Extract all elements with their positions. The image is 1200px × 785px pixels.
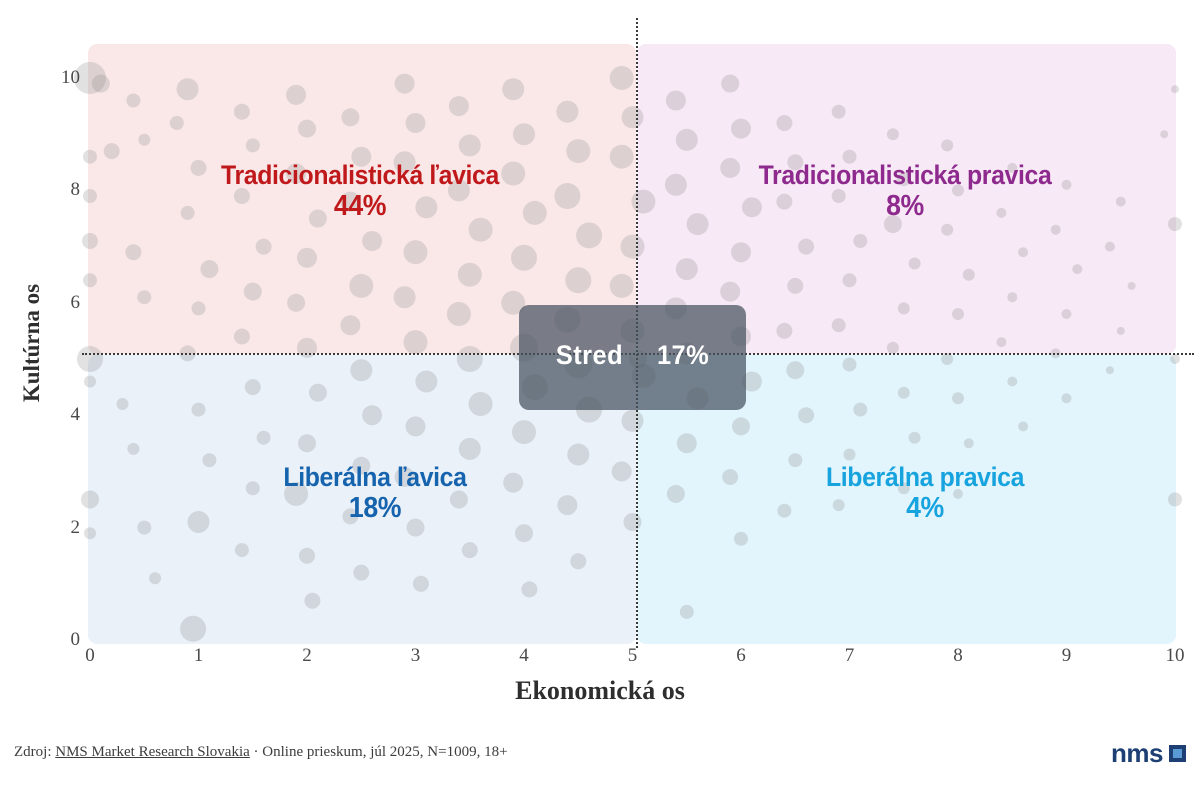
chart-page: Tradicionalistická ľavica 44% Tradiciona… — [0, 0, 1200, 785]
source-prefix: Zdroj: — [14, 744, 55, 760]
data-point-bubble — [1072, 264, 1082, 274]
data-point-bubble — [104, 143, 120, 159]
data-point-bubble — [1170, 354, 1180, 364]
data-point-bubble — [459, 438, 481, 460]
x-axis-title: Ekonomická os — [0, 676, 1200, 706]
center-percent: 17% — [657, 340, 709, 370]
data-point-bubble — [406, 416, 426, 436]
data-point-bubble — [787, 278, 803, 294]
data-point-bubble — [138, 134, 150, 146]
data-point-bubble — [1062, 393, 1072, 403]
data-point-bubble — [256, 239, 272, 255]
data-point-bubble — [234, 104, 250, 120]
data-point-bubble — [297, 248, 317, 268]
data-point-bubble — [245, 379, 261, 395]
data-point-bubble — [732, 417, 750, 435]
data-point-bubble — [1160, 130, 1168, 138]
data-point-bubble — [786, 361, 804, 379]
data-point-bubble — [952, 308, 964, 320]
data-point-bubble — [952, 392, 964, 404]
data-point-bubble — [612, 461, 632, 481]
data-point-bubble — [188, 511, 210, 533]
data-point-bubble — [1062, 309, 1072, 319]
data-point-bubble — [844, 449, 856, 461]
data-point-bubble — [92, 75, 110, 93]
data-point-bubble — [127, 443, 139, 455]
data-point-bubble — [395, 74, 415, 94]
data-point-bubble — [512, 420, 536, 444]
data-point-bubble — [622, 410, 644, 432]
x-tick-label: 5 — [613, 645, 653, 667]
data-point-bubble — [246, 138, 260, 152]
y-axis-title: Kultúrna os — [19, 223, 45, 463]
data-point-bubble — [721, 75, 739, 93]
data-point-bubble — [350, 359, 372, 381]
data-point-bubble — [1018, 247, 1028, 257]
data-point-bubble — [610, 274, 634, 298]
data-point-bubble — [502, 78, 524, 100]
data-point-bubble — [125, 244, 141, 260]
quadrant-name-top-right: Tradicionalistická pravica — [712, 160, 1098, 190]
y-tick-label: 0 — [40, 629, 80, 651]
data-point-bubble — [415, 371, 437, 393]
data-point-bubble — [557, 495, 577, 515]
data-point-bubble — [731, 242, 751, 262]
data-point-bubble — [180, 616, 206, 642]
data-point-bubble — [567, 444, 589, 466]
nms-logo: nms — [1111, 740, 1186, 766]
data-point-bubble — [511, 245, 537, 271]
data-point-bubble — [677, 433, 697, 453]
data-point-bubble — [404, 330, 428, 354]
data-point-bubble — [353, 565, 369, 581]
data-point-bubble — [515, 524, 533, 542]
data-point-bubble — [720, 282, 740, 302]
quadrant-name-top-left: Tradicionalistická ľavica — [148, 160, 571, 190]
data-point-bubble — [832, 318, 846, 332]
y-tick-label: 10 — [40, 67, 80, 89]
data-point-bubble — [170, 116, 184, 130]
data-point-bubble — [83, 273, 97, 287]
data-point-bubble — [798, 239, 814, 255]
x-tick-label: 4 — [504, 645, 544, 667]
data-point-bubble — [349, 274, 373, 298]
quadrant-label-top-left: Tradicionalistická ľavica 44% — [148, 160, 571, 223]
data-point-bubble — [126, 94, 140, 108]
x-tick-label: 3 — [396, 645, 436, 667]
x-tick-label: 6 — [721, 645, 761, 667]
data-point-bubble — [853, 403, 867, 417]
data-point-bubble — [996, 337, 1006, 347]
data-point-bubble — [462, 542, 478, 558]
data-point-bubble — [1116, 197, 1126, 207]
x-tick-label: 10 — [1155, 645, 1195, 667]
data-point-bubble — [137, 290, 151, 304]
data-point-bubble — [570, 553, 586, 569]
center-quadrant-label: Stred 17% — [526, 340, 739, 371]
data-point-bubble — [680, 605, 694, 619]
data-point-bubble — [624, 513, 642, 531]
data-point-bubble — [413, 576, 429, 592]
data-point-bubble — [309, 384, 327, 402]
quadrant-name-bottom-right: Liberálna pravica — [782, 462, 1067, 492]
data-point-bubble — [631, 190, 655, 214]
data-point-bubble — [843, 273, 857, 287]
data-point-bubble — [621, 235, 645, 259]
data-point-bubble — [665, 174, 687, 196]
data-point-bubble — [909, 258, 921, 270]
data-point-bubble — [257, 431, 271, 445]
data-point-bubble — [731, 119, 751, 139]
data-point-bubble — [1007, 377, 1017, 387]
data-point-bubble — [137, 521, 151, 535]
data-point-bubble — [200, 260, 218, 278]
data-point-bubble — [244, 283, 262, 301]
data-point-bubble — [286, 85, 306, 105]
data-point-bubble — [404, 240, 428, 264]
data-point-bubble — [449, 96, 469, 116]
source-note: Zdroj: NMS Market Research Slovakia · On… — [14, 744, 508, 761]
data-point-bubble — [776, 323, 792, 339]
data-point-bubble — [298, 120, 316, 138]
data-point-bubble — [610, 66, 634, 90]
data-point-bubble — [287, 294, 305, 312]
data-point-bubble — [576, 222, 602, 248]
data-point-bubble — [83, 189, 97, 203]
data-point-bubble — [304, 593, 320, 609]
data-point-bubble — [81, 491, 99, 509]
data-point-bubble — [1007, 292, 1017, 302]
x-tick-label: 8 — [938, 645, 978, 667]
data-point-bubble — [235, 543, 249, 557]
data-point-bubble — [1018, 421, 1028, 431]
data-point-bubble — [964, 438, 974, 448]
data-point-bubble — [722, 469, 738, 485]
quadrant-label-top-right: Tradicionalistická pravica 8% — [712, 160, 1098, 223]
data-point-bubble — [941, 139, 953, 151]
logo-wordmark: nms — [1111, 740, 1163, 766]
quadrant-percent-top-right: 8% — [712, 190, 1098, 222]
logo-square-icon — [1169, 745, 1186, 762]
data-point-bubble — [362, 405, 382, 425]
data-point-bubble — [234, 329, 250, 345]
data-point-bubble — [941, 224, 953, 236]
data-point-bubble — [457, 346, 483, 372]
data-point-bubble — [202, 453, 216, 467]
x-tick-label: 9 — [1047, 645, 1087, 667]
data-point-bubble — [909, 432, 921, 444]
data-point-bubble — [298, 434, 316, 452]
y-tick-label: 6 — [40, 292, 80, 314]
data-point-bubble — [341, 108, 359, 126]
data-point-bubble — [1168, 217, 1182, 231]
data-point-bubble — [513, 123, 535, 145]
data-point-bubble — [734, 532, 748, 546]
data-point-bubble — [77, 346, 103, 372]
data-point-bubble — [1051, 225, 1061, 235]
data-point-bubble — [149, 572, 161, 584]
data-point-bubble — [84, 376, 96, 388]
quadrant-label-bottom-left: Liberálna ľavica 18% — [232, 462, 517, 525]
data-point-bubble — [798, 407, 814, 423]
data-point-bubble — [676, 258, 698, 280]
data-point-bubble — [447, 302, 471, 326]
data-point-bubble — [887, 128, 899, 140]
data-point-bubble — [177, 78, 199, 100]
x-tick-label: 2 — [287, 645, 327, 667]
data-point-bubble — [622, 106, 644, 128]
data-point-bubble — [963, 269, 975, 281]
chart-footer: Zdroj: NMS Market Research Slovakia · On… — [0, 710, 1200, 785]
data-point-bubble — [83, 150, 97, 164]
data-point-bubble — [521, 581, 537, 597]
source-rest: · Online prieskum, júl 2025, N=1009, 18+ — [250, 744, 508, 760]
data-point-bubble — [556, 101, 578, 123]
y-tick-label: 4 — [40, 404, 80, 426]
data-point-bubble — [843, 358, 857, 372]
data-point-bubble — [776, 115, 792, 131]
data-point-bubble — [687, 213, 709, 235]
data-point-bubble — [117, 398, 129, 410]
data-point-bubble — [459, 134, 481, 156]
data-point-bubble — [898, 387, 910, 399]
quadrant-percent-top-left: 44% — [148, 190, 571, 222]
y-tick-label: 2 — [40, 517, 80, 539]
data-point-bubble — [1128, 282, 1136, 290]
data-point-bubble — [82, 233, 98, 249]
x-tick-label: 1 — [179, 645, 219, 667]
quadrant-percent-bottom-left: 18% — [232, 492, 517, 524]
data-point-bubble — [1106, 366, 1114, 374]
data-point-bubble — [565, 267, 591, 293]
data-point-bubble — [1105, 242, 1115, 252]
data-point-bubble — [192, 403, 206, 417]
source-link[interactable]: NMS Market Research Slovakia — [55, 744, 250, 760]
data-point-bubble — [667, 485, 685, 503]
data-point-bubble — [853, 234, 867, 248]
data-point-bubble — [887, 342, 899, 354]
data-point-bubble — [1117, 327, 1125, 335]
data-point-bubble — [192, 301, 206, 315]
quadrant-percent-bottom-right: 4% — [782, 492, 1067, 524]
data-point-bubble — [832, 105, 846, 119]
data-point-bubble — [406, 113, 426, 133]
data-point-bubble — [458, 263, 482, 287]
data-point-bubble — [84, 527, 96, 539]
x-tick-label: 7 — [830, 645, 870, 667]
data-point-bubble — [394, 286, 416, 308]
data-point-bubble — [676, 129, 698, 151]
quadrant-label-bottom-right: Liberálna pravica 4% — [782, 462, 1067, 525]
quadrant-name-bottom-left: Liberálna ľavica — [232, 462, 517, 492]
center-name: Stred — [556, 340, 623, 370]
data-point-bubble — [610, 145, 634, 169]
data-point-bubble — [362, 231, 382, 251]
y-tick-label: 8 — [40, 179, 80, 201]
data-point-bubble — [1168, 493, 1182, 507]
data-point-bubble — [469, 392, 493, 416]
data-point-bubble — [898, 302, 910, 314]
data-point-bubble — [299, 548, 315, 564]
data-point-bubble — [1171, 85, 1179, 93]
scatter-plot-area: Tradicionalistická ľavica 44% Tradiciona… — [0, 0, 1200, 710]
data-point-bubble — [340, 315, 360, 335]
data-point-bubble — [666, 91, 686, 111]
